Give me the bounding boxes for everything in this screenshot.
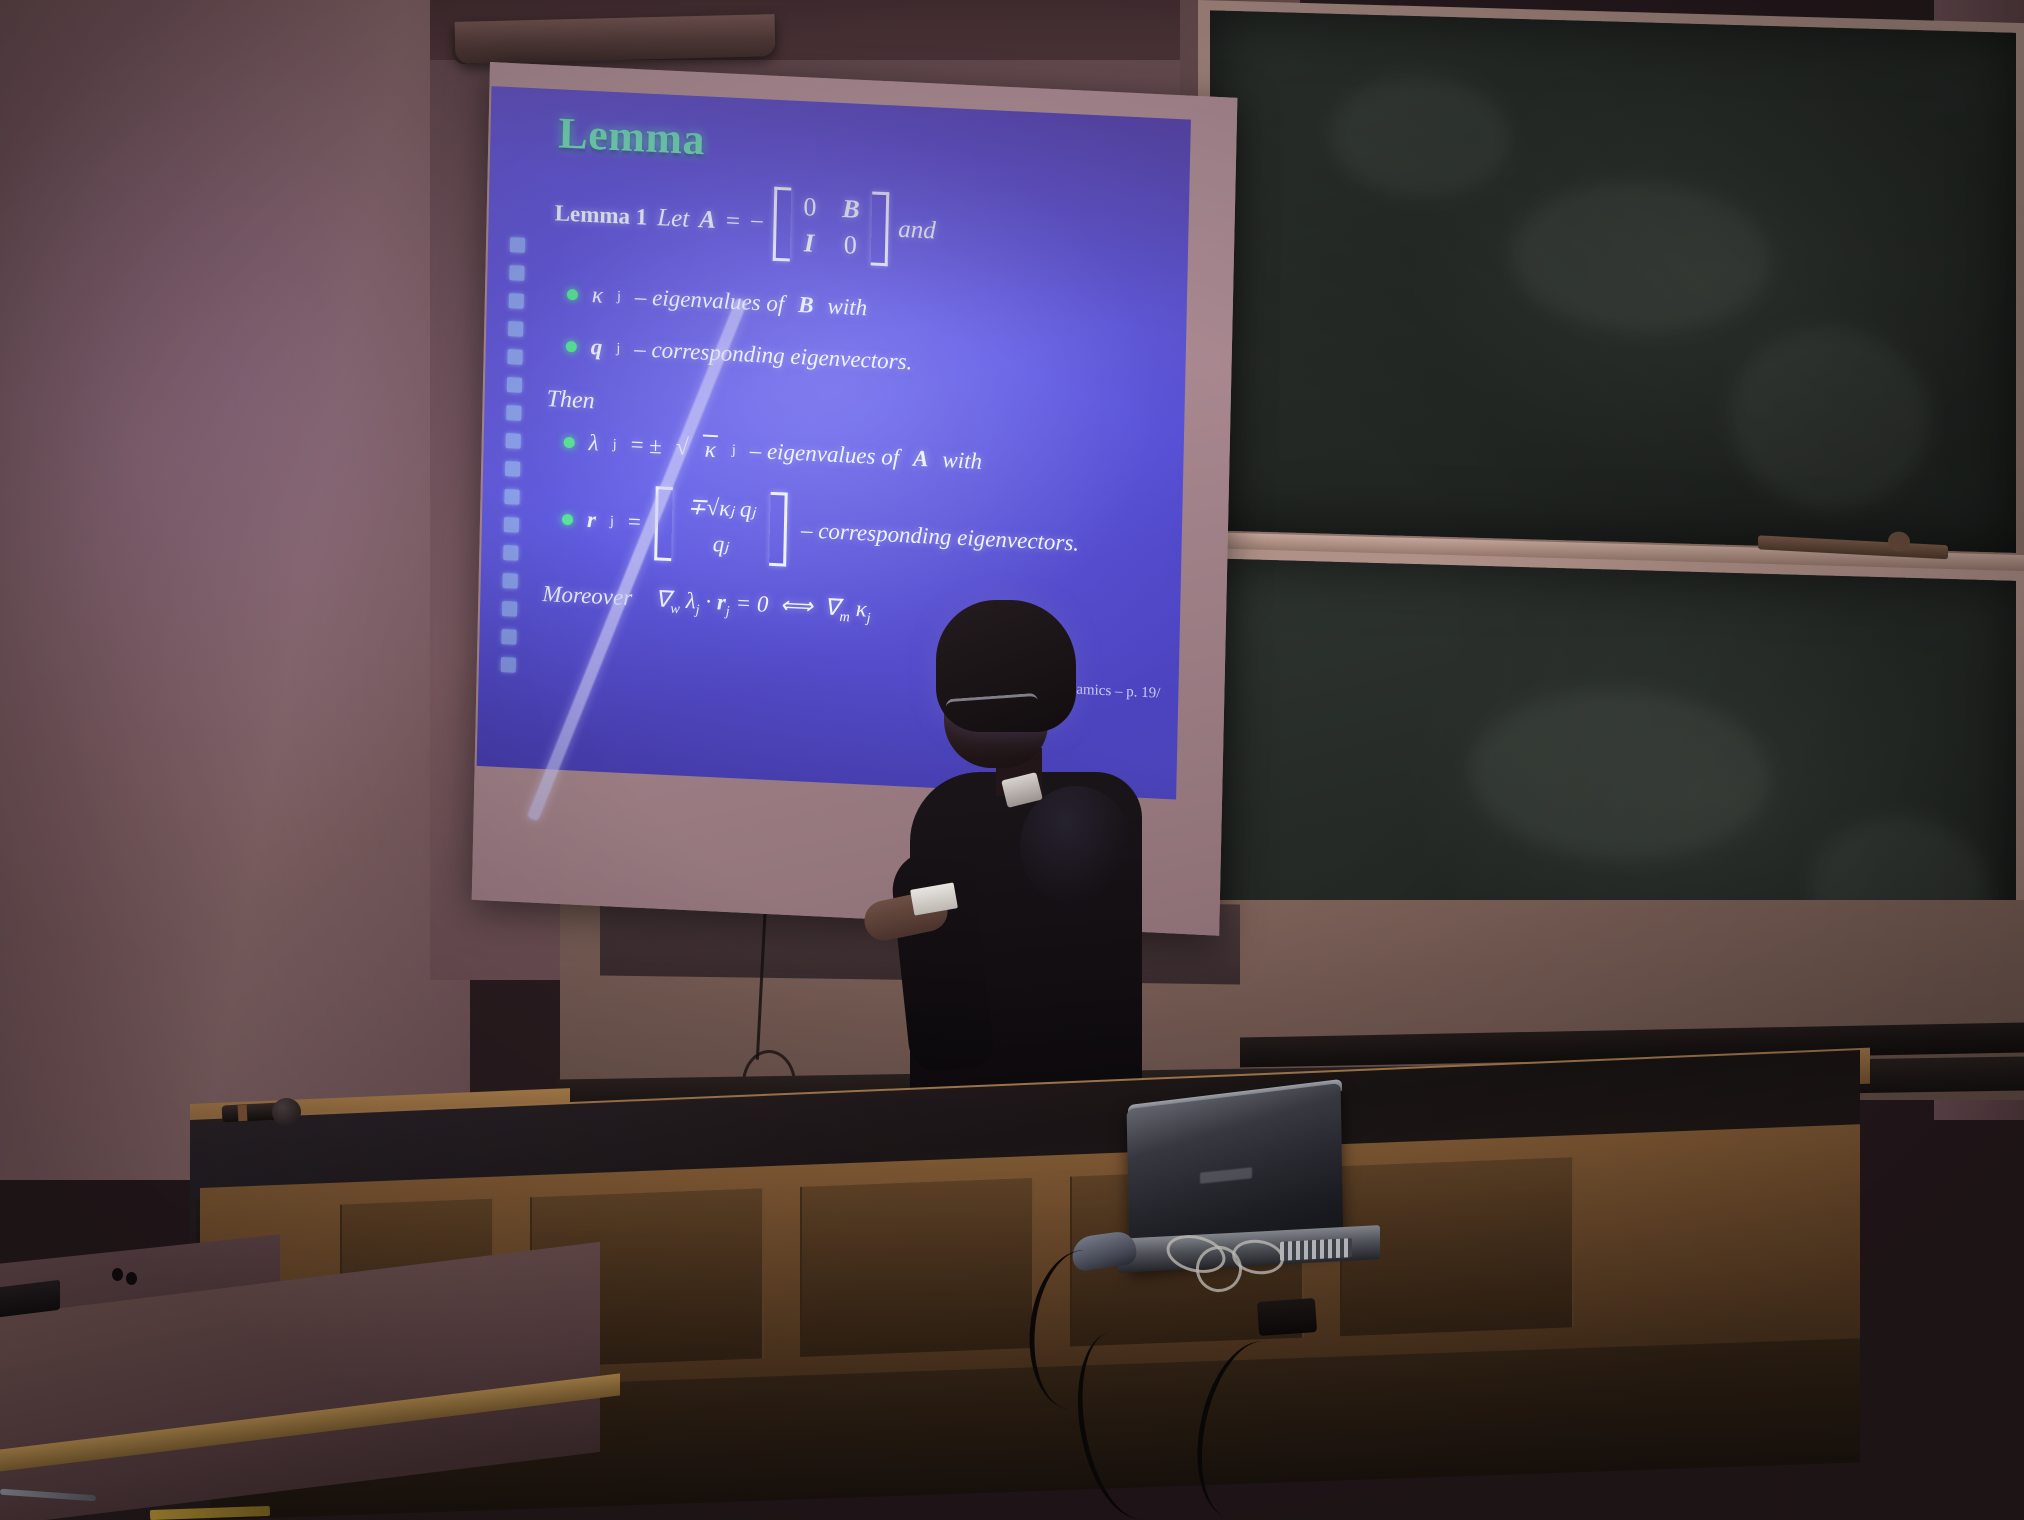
moreover-equals-zero: = 0	[735, 590, 768, 617]
hypothesis-emph: B	[798, 292, 814, 319]
conclusion-radicand: κ	[702, 435, 718, 464]
chalk-smudge	[1510, 179, 1770, 336]
lemma-variable: A	[699, 206, 716, 235]
lemma-trailing-and: and	[898, 216, 936, 246]
slide-decoration-dots	[501, 237, 525, 673]
iff-icon: ⟺	[780, 592, 814, 619]
hypothesis-symbol: κ	[592, 282, 604, 309]
matrix-cell-00: 0	[803, 192, 817, 223]
eigenvector-column-vector: ∓√κⱼ qⱼ qⱼ	[654, 486, 788, 566]
hypothesis-item: κj – eigenvalues of B with	[567, 281, 1173, 336]
lemma-matrix: 0 B I 0	[773, 187, 889, 266]
hypotheses-list: κj – eigenvalues of B with qj – correspo…	[566, 281, 1173, 388]
conclusion-text: – corresponding eigenvectors.	[801, 517, 1080, 556]
bullet-dot-icon	[566, 340, 577, 352]
lemma-number: Lemma 1	[554, 200, 647, 230]
lemma-minus-sign: −	[750, 209, 765, 238]
lemma-equals: =	[726, 207, 741, 236]
conclusion-radicand-subscript: j	[732, 441, 736, 458]
conclusion-emph: A	[913, 446, 929, 473]
nabla-subscript-w: w	[670, 601, 680, 617]
conclusion-relation: =	[628, 509, 642, 536]
chalk-smudge	[1330, 74, 1510, 199]
matrix-cell-01: B	[842, 194, 860, 225]
nabla-icon-rhs: ∇	[824, 594, 840, 620]
conclusion-lhs: λ	[588, 430, 599, 456]
conclusion-text: – eigenvalues of	[749, 438, 899, 471]
vector-cell-top: ∓√κⱼ qⱼ	[687, 494, 756, 523]
chalk-smudge	[1470, 686, 1770, 864]
moreover-r-subscript: j	[726, 603, 730, 619]
screen-roller-housing	[455, 14, 776, 64]
hypothesis-tail: with	[827, 293, 867, 321]
vector-cells: ∓√κⱼ qⱼ qⱼ	[676, 487, 766, 565]
vector-right-bracket	[769, 492, 788, 567]
hypothesis-text: – eigenvalues of	[635, 284, 785, 317]
bullet-dot-icon	[567, 288, 578, 300]
presenter-shoulder-highlight	[1020, 786, 1132, 906]
lectern-panel-section	[800, 1178, 1034, 1357]
matrix-cell-11: 0	[841, 230, 859, 261]
nabla-subscript-m: m	[839, 609, 850, 625]
conclusion-relation: = ±	[630, 432, 662, 459]
matrix-left-bracket	[773, 187, 792, 262]
conclusion-subscript: j	[612, 436, 616, 453]
hypothesis-text: – corresponding eigenvectors.	[634, 336, 913, 375]
matrix-grid: 0 B I 0	[796, 188, 866, 265]
bullet-dot-icon	[564, 436, 575, 448]
lecture-hall-scene: Lemma Lemma 1 Let A = − 0 B I 0	[0, 0, 2024, 1520]
lemma-statement: Lemma 1 Let A = − 0 B I 0	[554, 176, 1175, 280]
hypothesis-subscript: j	[616, 340, 620, 357]
matrix-right-bracket	[870, 191, 889, 266]
hypothesis-subscript: j	[617, 288, 621, 305]
nabla-icon: ∇	[655, 586, 671, 612]
microphone-head	[272, 1098, 301, 1126]
power-adapter	[1257, 1298, 1317, 1336]
microphone-ring	[238, 1105, 248, 1121]
blackboard-upper	[1198, 0, 2024, 575]
hypothesis-symbol: q	[591, 334, 603, 361]
lemma-lead: Let	[657, 204, 690, 234]
blackboard-upper-surface	[1210, 10, 2016, 553]
chalk-smudge	[1730, 325, 1930, 511]
matrix-cell-10: I	[802, 228, 816, 259]
conclusion-subscript: j	[610, 513, 614, 530]
wall-left-light-wash	[0, 0, 470, 1180]
moreover-kappa: κ	[855, 596, 867, 622]
conclusion-tail: with	[942, 447, 982, 475]
hypothesis-item: qj – corresponding eigenvectors.	[566, 333, 1172, 388]
wall-power-outlet	[112, 1268, 138, 1284]
moreover-kappa-subscript: j	[866, 610, 870, 626]
dot-product-icon: ·	[705, 589, 711, 614]
bullet-dot-icon	[562, 513, 573, 525]
chalk-tray-knob	[1888, 531, 1910, 552]
slide-title: Lemma	[558, 107, 1177, 188]
moreover-lambda-subscript: j	[695, 602, 699, 618]
conclusion-lhs: r	[587, 507, 597, 533]
vector-cell-bottom: qⱼ	[686, 530, 755, 559]
laptop-vent	[1280, 1238, 1352, 1261]
